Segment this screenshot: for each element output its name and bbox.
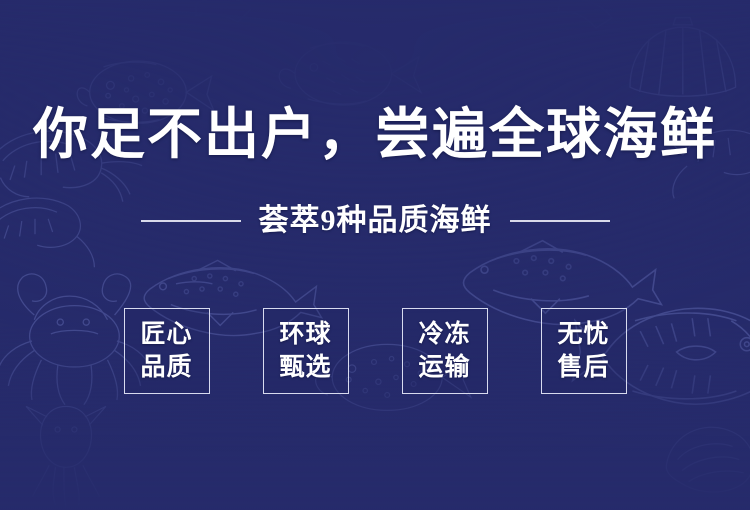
feature-box-worry-free-aftersales[interactable]: 无忧 售后 xyxy=(541,308,627,394)
feature-line-1: 环球 xyxy=(279,318,331,351)
right-rule-divider xyxy=(510,220,610,222)
feature-line-2: 品质 xyxy=(140,351,192,384)
feature-line-2: 售后 xyxy=(557,351,609,384)
feature-line-2: 运输 xyxy=(418,351,470,384)
left-rule-divider xyxy=(141,220,241,222)
feature-box-global-selection[interactable]: 环球 甄选 xyxy=(263,308,349,394)
feature-box-row: 匠心 品质 环球 甄选 冷冻 运输 无忧 售后 xyxy=(0,308,750,394)
seafood-line-art-background xyxy=(0,0,750,510)
feature-line-1: 冷冻 xyxy=(418,318,470,351)
background-gradient-wash xyxy=(0,0,750,510)
feature-line-2: 甄选 xyxy=(279,351,331,384)
feature-box-craftsmanship-quality[interactable]: 匠心 品质 xyxy=(124,308,210,394)
feature-box-frozen-transport[interactable]: 冷冻 运输 xyxy=(402,308,488,394)
page-title: 你足不出户，尝遍全球海鲜 xyxy=(0,104,750,166)
seafood-promo-banner: 你足不出户，尝遍全球海鲜 荟萃9种品质海鲜 匠心 品质 环球 甄选 冷冻 运输 … xyxy=(0,0,750,510)
subtitle-row: 荟萃9种品质海鲜 xyxy=(0,203,750,239)
subtitle-text: 荟萃9种品质海鲜 xyxy=(259,203,492,239)
feature-line-1: 无忧 xyxy=(557,318,609,351)
feature-line-1: 匠心 xyxy=(140,318,192,351)
